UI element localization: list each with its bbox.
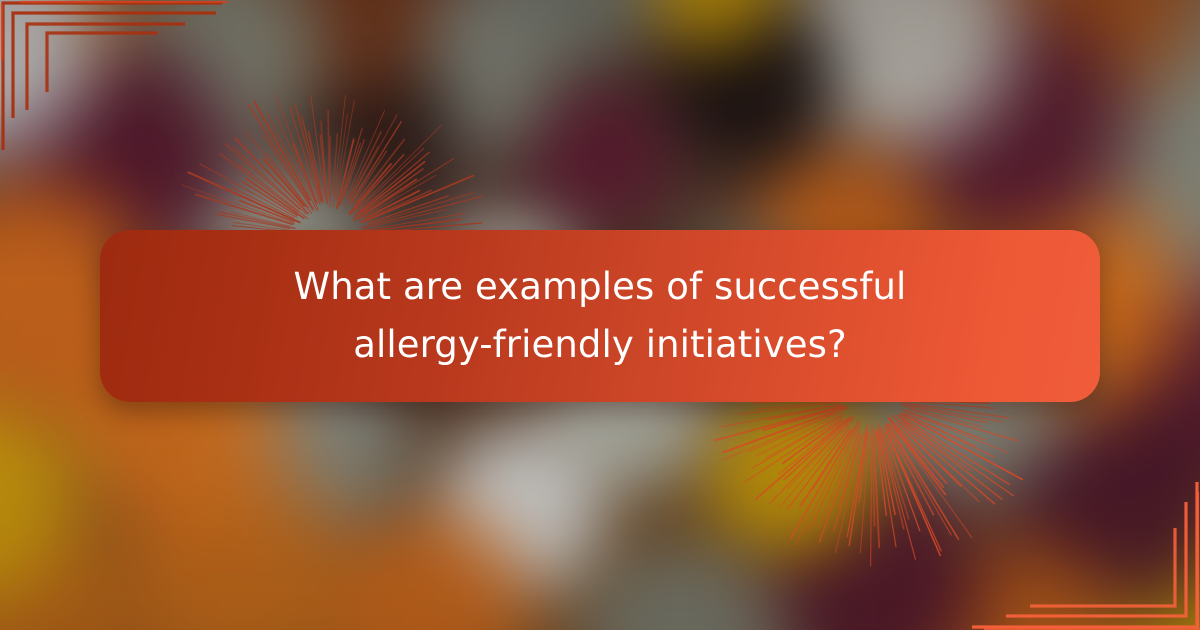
question-line-1: What are examples of successful [294,265,907,308]
question-title: What are examples of successful allergy-… [170,258,1030,375]
question-card: What are examples of successful allergy-… [100,230,1100,402]
question-line-2: allergy-friendly initiatives? [353,323,847,366]
social-card-canvas: What are examples of successful allergy-… [0,0,1200,630]
